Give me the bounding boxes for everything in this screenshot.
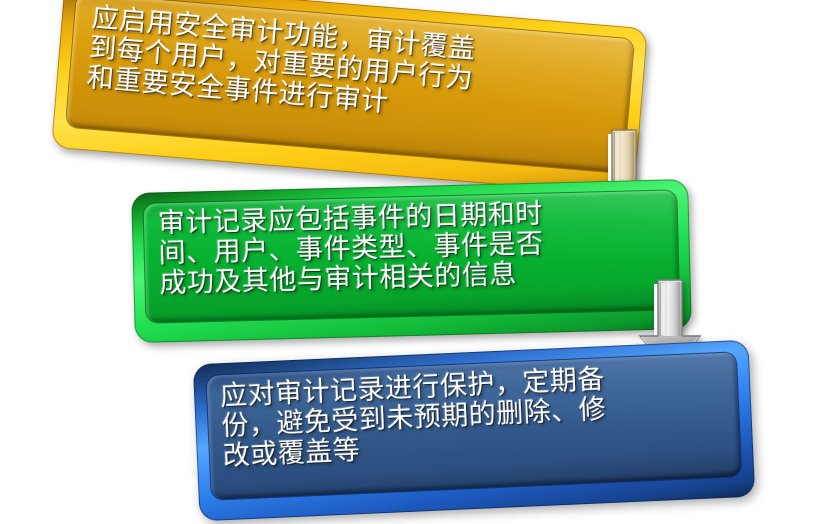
green-box-face: [143, 190, 679, 322]
slide-canvas: 应启用安全审计功能，审计覆盖 到每个用户，对重要的用户行为 和重要安全事件进行审…: [0, 0, 816, 524]
process-step-box-green[interactable]: 审计记录应包括事件的日期和时 间、用户、事件类型、事件是否 成功及其他与审计相关…: [131, 179, 692, 343]
blue-box-gloss: [206, 352, 741, 499]
green-box-gloss: [143, 190, 679, 322]
blue-box-face: [206, 352, 741, 499]
process-step-box-blue[interactable]: 应对审计记录进行保护，定期备 份，避免受到未预期的删除、修 改或覆盖等: [193, 340, 755, 522]
process-step-box-gold[interactable]: 应启用安全审计功能，审计覆盖 到每个用户，对重要的用户行为 和重要安全事件进行审…: [51, 0, 648, 196]
